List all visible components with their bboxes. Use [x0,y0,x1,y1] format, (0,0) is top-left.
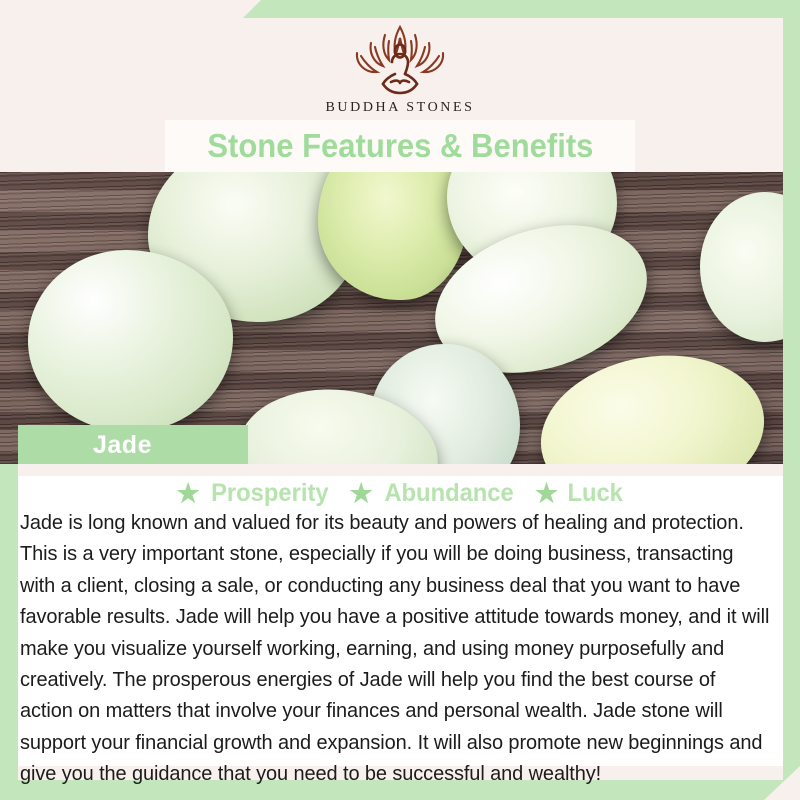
stone-info-poster: BUDDHA STONES Stone Features & Benefits … [0,0,800,800]
brand-logo: BUDDHA STONES [0,20,800,116]
description-text: Jade is long known and valued for its be… [20,508,773,791]
lotus-meditation-icon [335,20,465,98]
stone-name-label: Jade [93,431,152,460]
stone-shape [28,250,233,432]
benefit-label: Luck [568,479,623,508]
benefit-label: Prosperity [211,479,328,508]
benefit-label: Abundance [384,479,513,508]
brand-name: BUDDHA STONES [0,100,800,116]
page-title: Stone Features & Benefits [207,127,593,165]
star-icon: ★ [535,480,558,506]
benefit-item: ★ Luck [535,479,625,508]
benefit-item: ★ Prosperity [176,479,331,508]
benefit-item: ★ Abundance [349,479,516,508]
star-icon: ★ [176,480,199,506]
stone-name-badge: Jade [18,425,248,466]
star-icon: ★ [349,480,372,506]
title-banner: Stone Features & Benefits [165,120,635,172]
benefits-list: ★ Prosperity ★ Abundance ★ Luck [18,476,783,510]
stone-photo [0,172,783,464]
poster-header: BUDDHA STONES Stone Features & Benefits [0,0,800,172]
